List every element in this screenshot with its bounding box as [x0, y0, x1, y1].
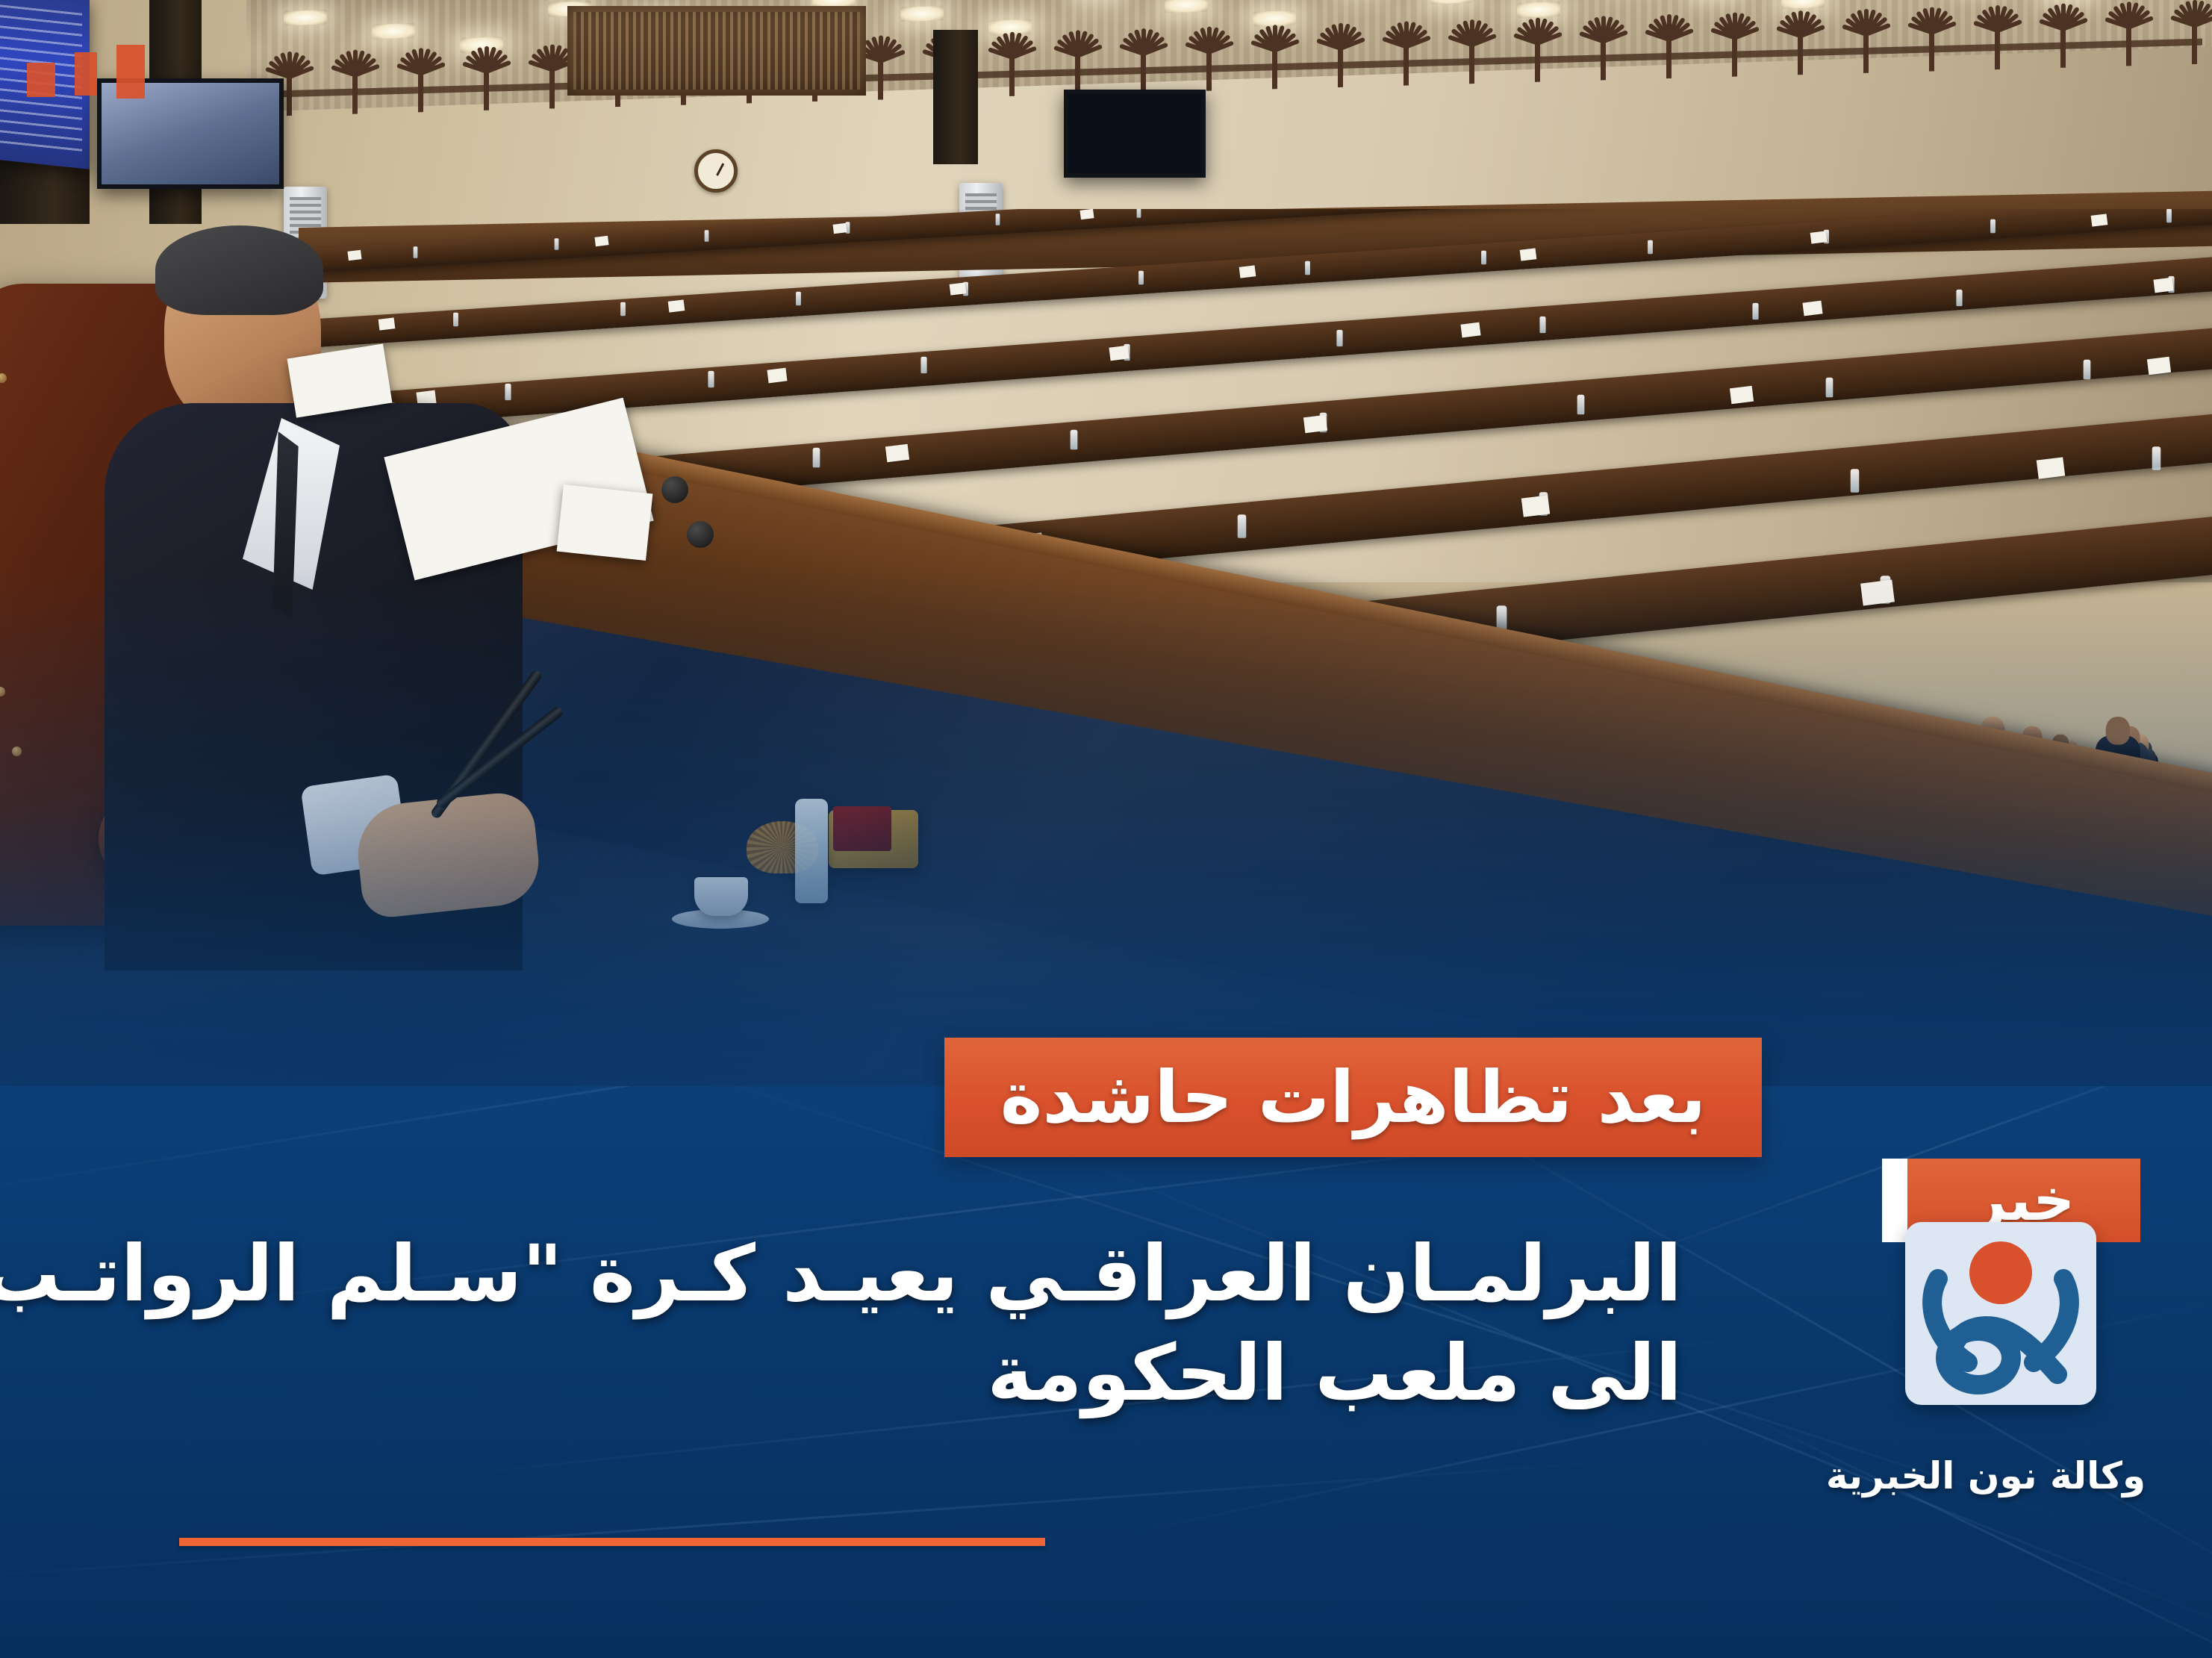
news-badge-label: خبر — [1973, 1171, 2075, 1230]
three-bars-watermark-icon — [27, 45, 145, 99]
news-badge-tick — [1882, 1159, 1907, 1242]
headline-underline-rule — [179, 1538, 1045, 1546]
headline: البرلمـان العراقـي يعيـد كـرة "سـلم الرو… — [54, 1224, 1682, 1423]
headline-line-2: الى ملعب الحكومة — [54, 1324, 1682, 1423]
news-card: بعد تظاهرات حاشدة البرلمـان العراقـي يعي… — [0, 0, 2212, 1658]
agency-name: وكالة نون الخبرية — [1777, 1454, 2195, 1498]
logo-dot-icon — [1969, 1241, 2032, 1304]
noon-logo-mark-icon — [1916, 1232, 2086, 1395]
kicker-text: بعد تظاهرات حاشدة — [1000, 1062, 1707, 1133]
agency-logo — [1905, 1222, 2096, 1405]
headline-line-1: البرلمـان العراقـي يعيـد كـرة "سـلم الرو… — [54, 1224, 1682, 1324]
kicker-bar: بعد تظاهرات حاشدة — [944, 1038, 1762, 1157]
